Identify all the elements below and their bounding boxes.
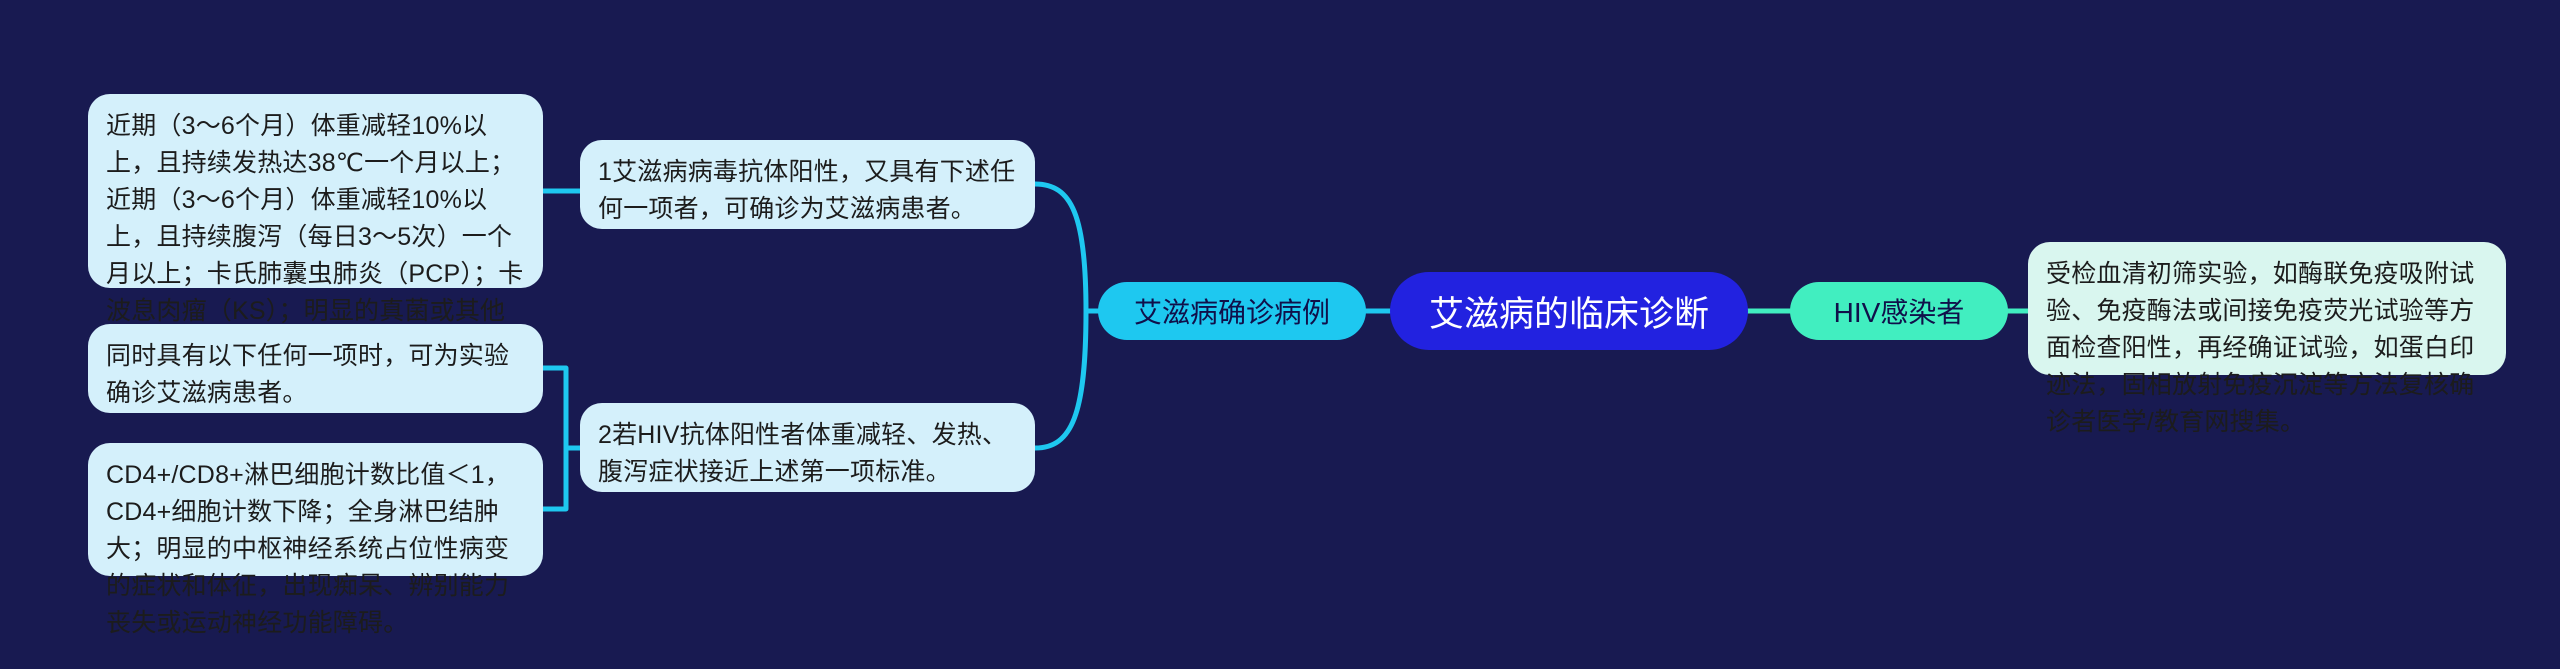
wire-cd4-to-riser [543, 448, 566, 509]
detail-card-cd4-cd8-ratio-text: CD4+/CD8+淋巴细胞计数比值＜1，CD4+细胞计数下降；全身淋巴结肿大；明… [106, 457, 525, 642]
criteria-card-antibody-positive-text: 1艾滋病病毒抗体阳性，又具有下述任何一项者，可确诊为艾滋病患者。 [598, 154, 1017, 228]
detail-card-cd4-cd8-ratio[interactable]: CD4+/CD8+淋巴细胞计数比值＜1，CD4+细胞计数下降；全身淋巴结肿大；明… [88, 443, 543, 576]
node-confirmed-case[interactable]: 艾滋病确诊病例 [1098, 282, 1366, 340]
detail-card-lab-confirm-intro[interactable]: 同时具有以下任何一项时，可为实验确诊艾滋病患者。 [88, 324, 543, 413]
criteria-card-hiv-symptom-match-text: 2若HIV抗体阳性者体重减轻、发热、腹泻症状接近上述第一项标准。 [598, 417, 1017, 491]
wire-labconfirm-to-riser [543, 368, 566, 448]
criteria-card-antibody-positive[interactable]: 1艾滋病病毒抗体阳性，又具有下述任何一项者，可确诊为艾滋病患者。 [580, 140, 1035, 229]
detail-card-weight-loss-fever[interactable]: 近期（3～6个月）体重减轻10%以上，且持续发热达38℃一个月以上；近期（3～6… [88, 94, 543, 288]
node-confirmed-case-label: 艾滋病确诊病例 [1134, 291, 1330, 331]
wire-hivsymptom-to-brace [1035, 311, 1086, 448]
detail-card-lab-confirm-intro-text: 同时具有以下任何一项时，可为实验确诊艾滋病患者。 [106, 338, 525, 412]
detail-card-serology-screening[interactable]: 受检血清初筛实验，如酶联免疫吸附试验、免疫酶法或间接免疫荧光试验等方面检查阳性，… [2028, 242, 2506, 375]
node-root-topic[interactable]: 艾滋病的临床诊断 [1390, 272, 1748, 350]
node-hiv-carrier-label: HIV感染者 [1834, 291, 1965, 331]
criteria-card-hiv-symptom-match[interactable]: 2若HIV抗体阳性者体重减轻、发热、腹泻症状接近上述第一项标准。 [580, 403, 1035, 492]
mindmap-canvas: 近期（3～6个月）体重减轻10%以上，且持续发热达38℃一个月以上；近期（3～6… [0, 0, 2560, 669]
detail-card-serology-screening-text: 受检血清初筛实验，如酶联免疫吸附试验、免疫酶法或间接免疫荧光试验等方面检查阳性，… [2046, 256, 2488, 441]
wire-antibody-to-brace [1035, 184, 1086, 311]
node-hiv-carrier[interactable]: HIV感染者 [1790, 282, 2008, 340]
node-root-topic-label: 艾滋病的临床诊断 [1429, 286, 1709, 337]
